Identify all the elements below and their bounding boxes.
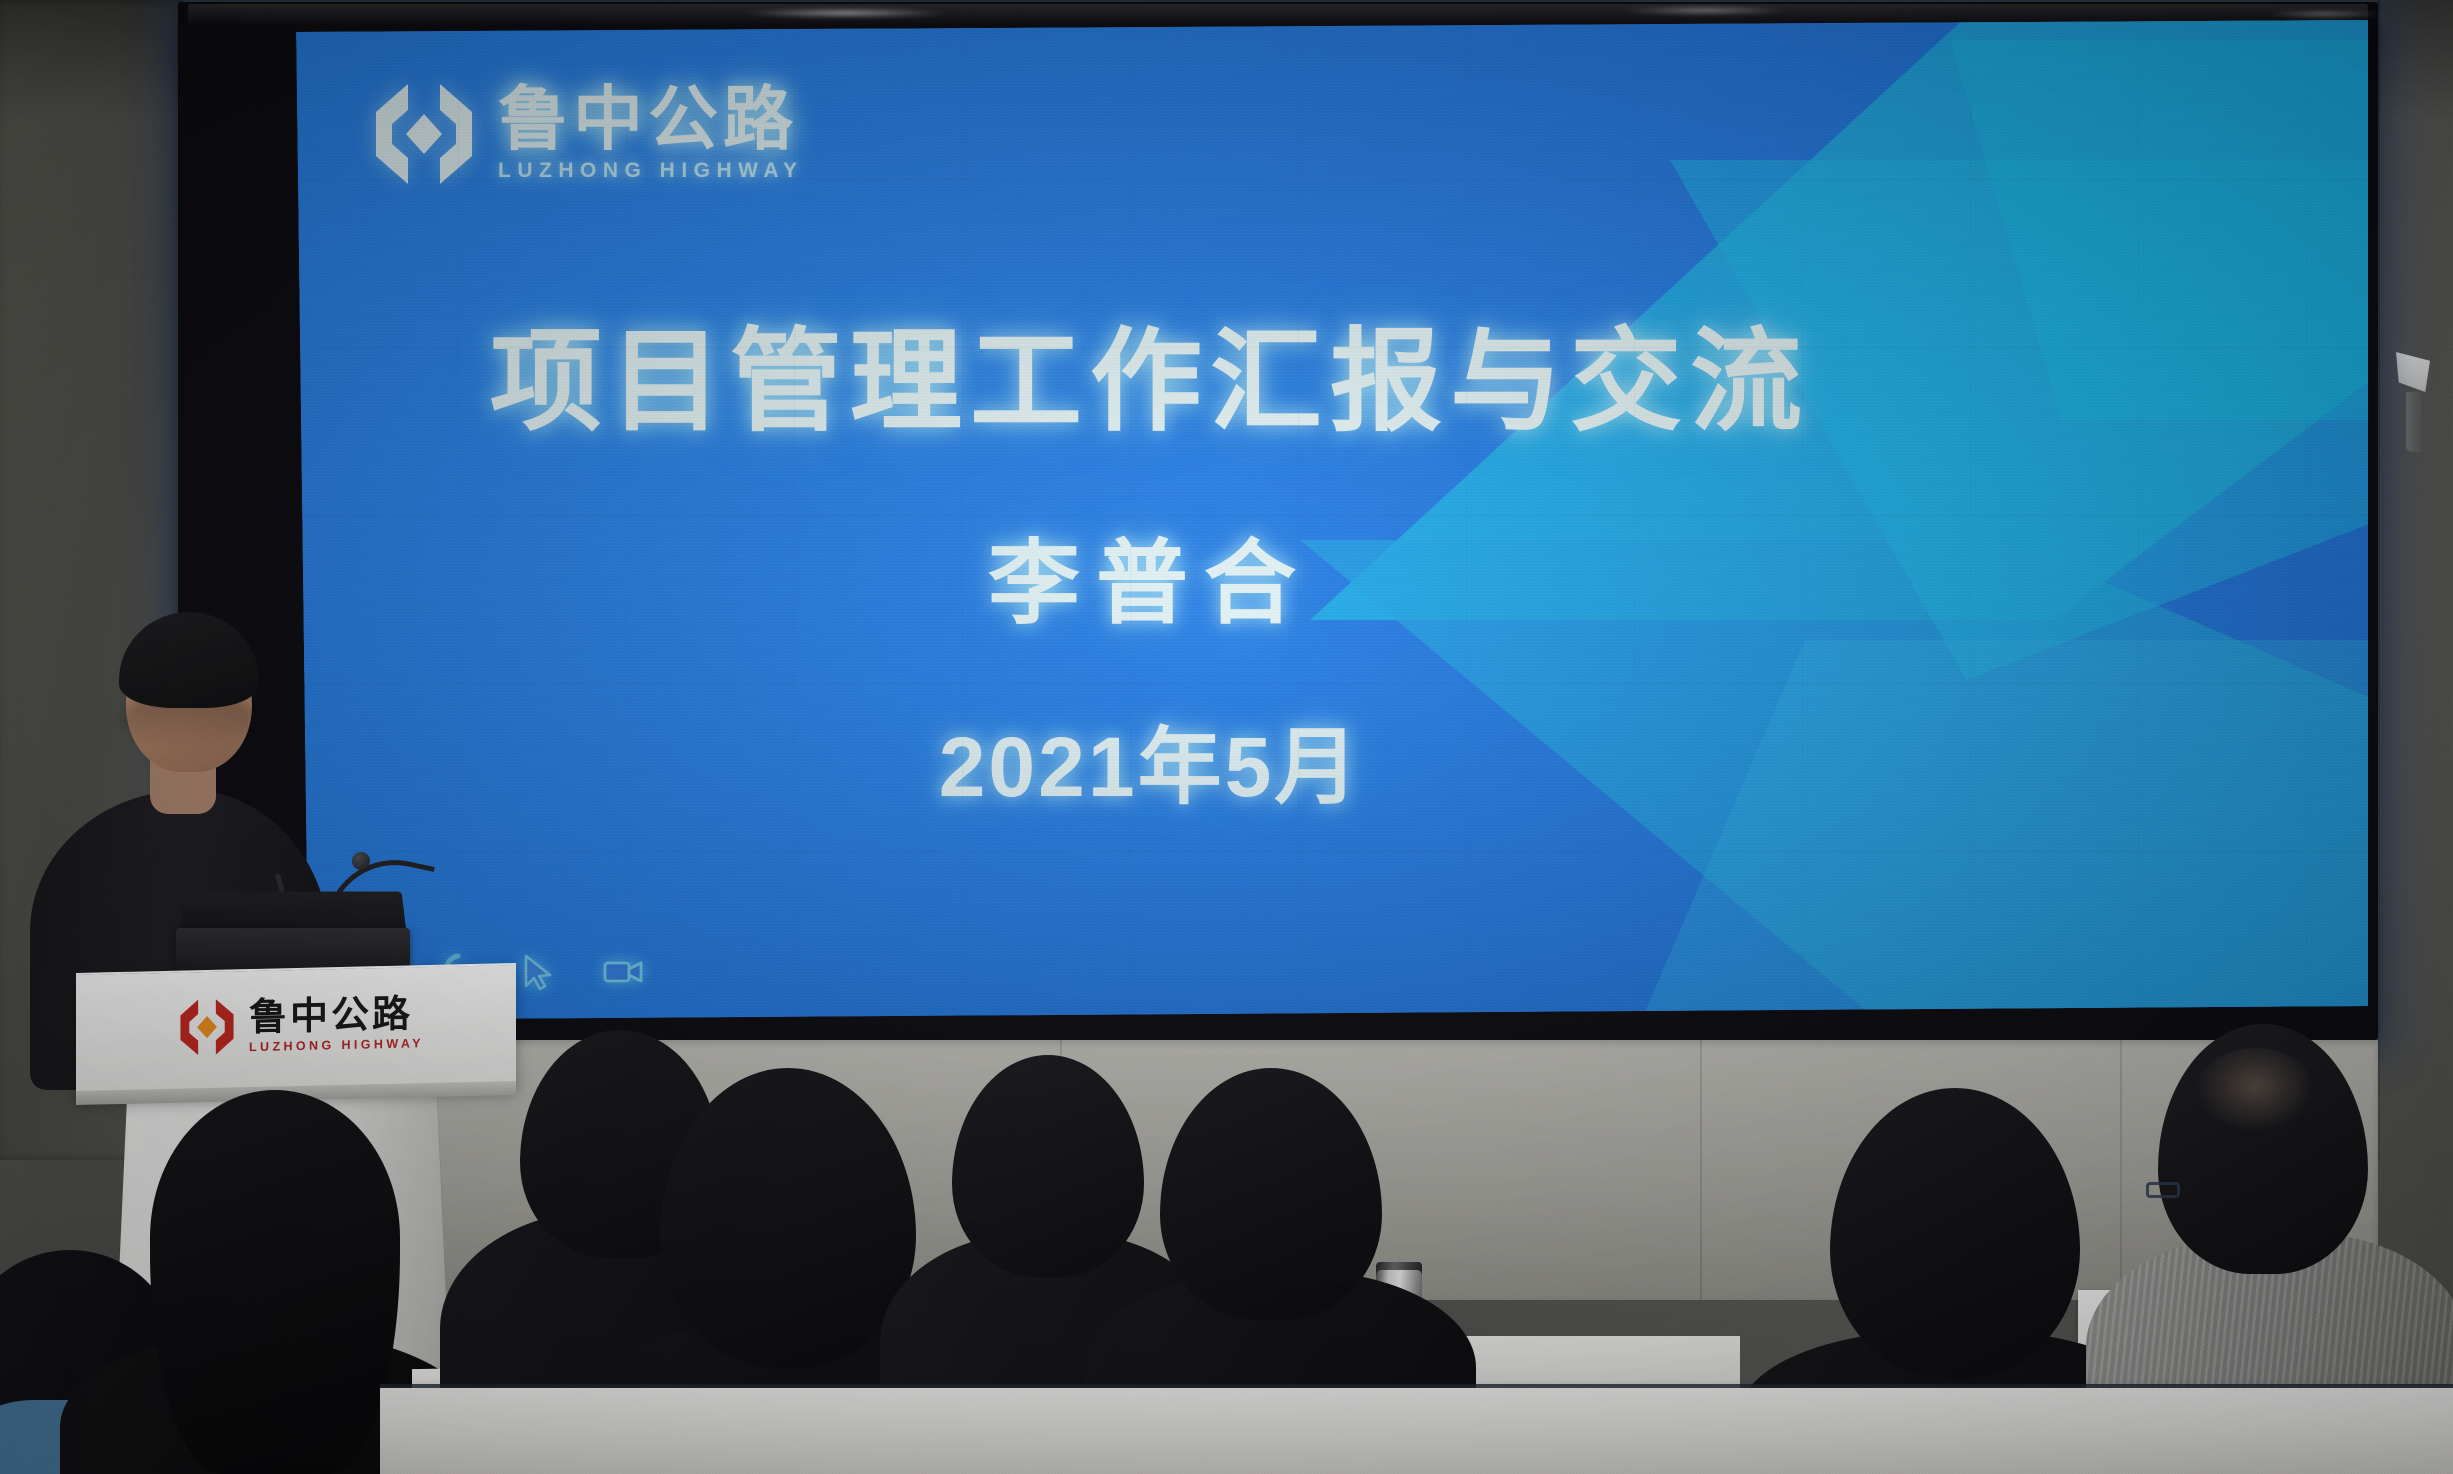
bezel-highlight [2265,10,2385,18]
podium-logo-cn: 鲁中公路 [249,995,424,1037]
audience-member-hair [150,1090,400,1474]
microphone-head-icon [352,852,370,870]
conference-table-front [380,1388,2453,1474]
panel-seam [2120,1040,2122,1300]
luzhong-diamond-mark-red-icon [176,995,238,1058]
panel-seam [1700,1040,1702,1300]
conference-room-photo: 鲁中公路 LUZHONG HIGHWAY 项目管理工作汇报与交流 李普合 202… [0,0,2453,1474]
podium-logo-en: LUZHONG HIGHWAY [249,1036,424,1054]
eyeglasses-icon [2146,1182,2180,1198]
bezel-highlight [740,8,950,18]
wall-seam-2 [2378,0,2380,1160]
presentation-screen[interactable]: 鲁中公路 LUZHONG HIGHWAY 项目管理工作汇报与交流 李普合 202… [290,20,2368,1020]
bezel-highlight [1620,6,1790,15]
audience-member-scalp [2196,1048,2314,1132]
wall-fixture-stem [2406,392,2424,452]
podium-logo: 鲁中公路 LUZHONG HIGHWAY [176,991,424,1059]
screen-vignette [290,20,2368,1020]
